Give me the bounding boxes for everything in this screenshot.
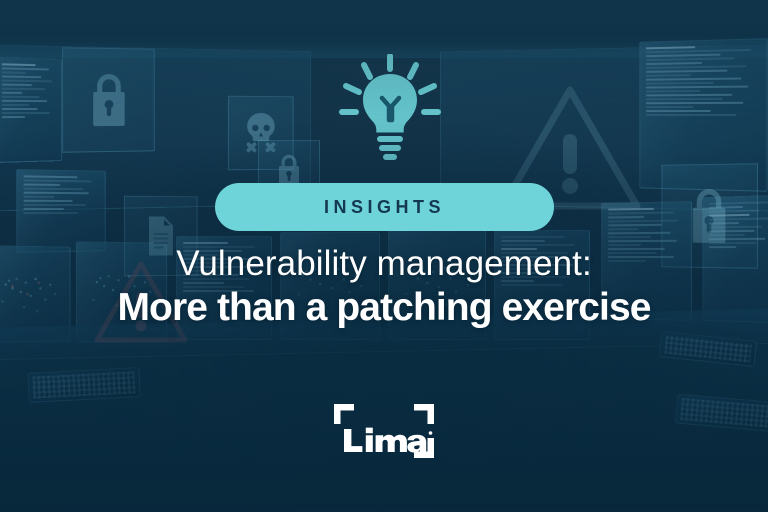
insights-banner: INSIGHTS Vulnerability management: More … [0,0,768,512]
headline-line-1: Vulnerability management: [0,244,768,283]
insights-badge-label: INSIGHTS [324,198,445,216]
lima-wordmark [344,428,426,453]
insights-badge[interactable]: INSIGHTS [215,183,554,231]
bracket-top-right [414,404,434,424]
banner-content: INSIGHTS Vulnerability management: More … [0,0,768,512]
bracket-top-left [334,404,354,424]
headline: Vulnerability management: More than a pa… [0,244,768,331]
headline-line-2: More than a patching exercise [0,285,768,331]
lima-logo[interactable] [332,402,436,460]
registered-mark [429,431,433,435]
